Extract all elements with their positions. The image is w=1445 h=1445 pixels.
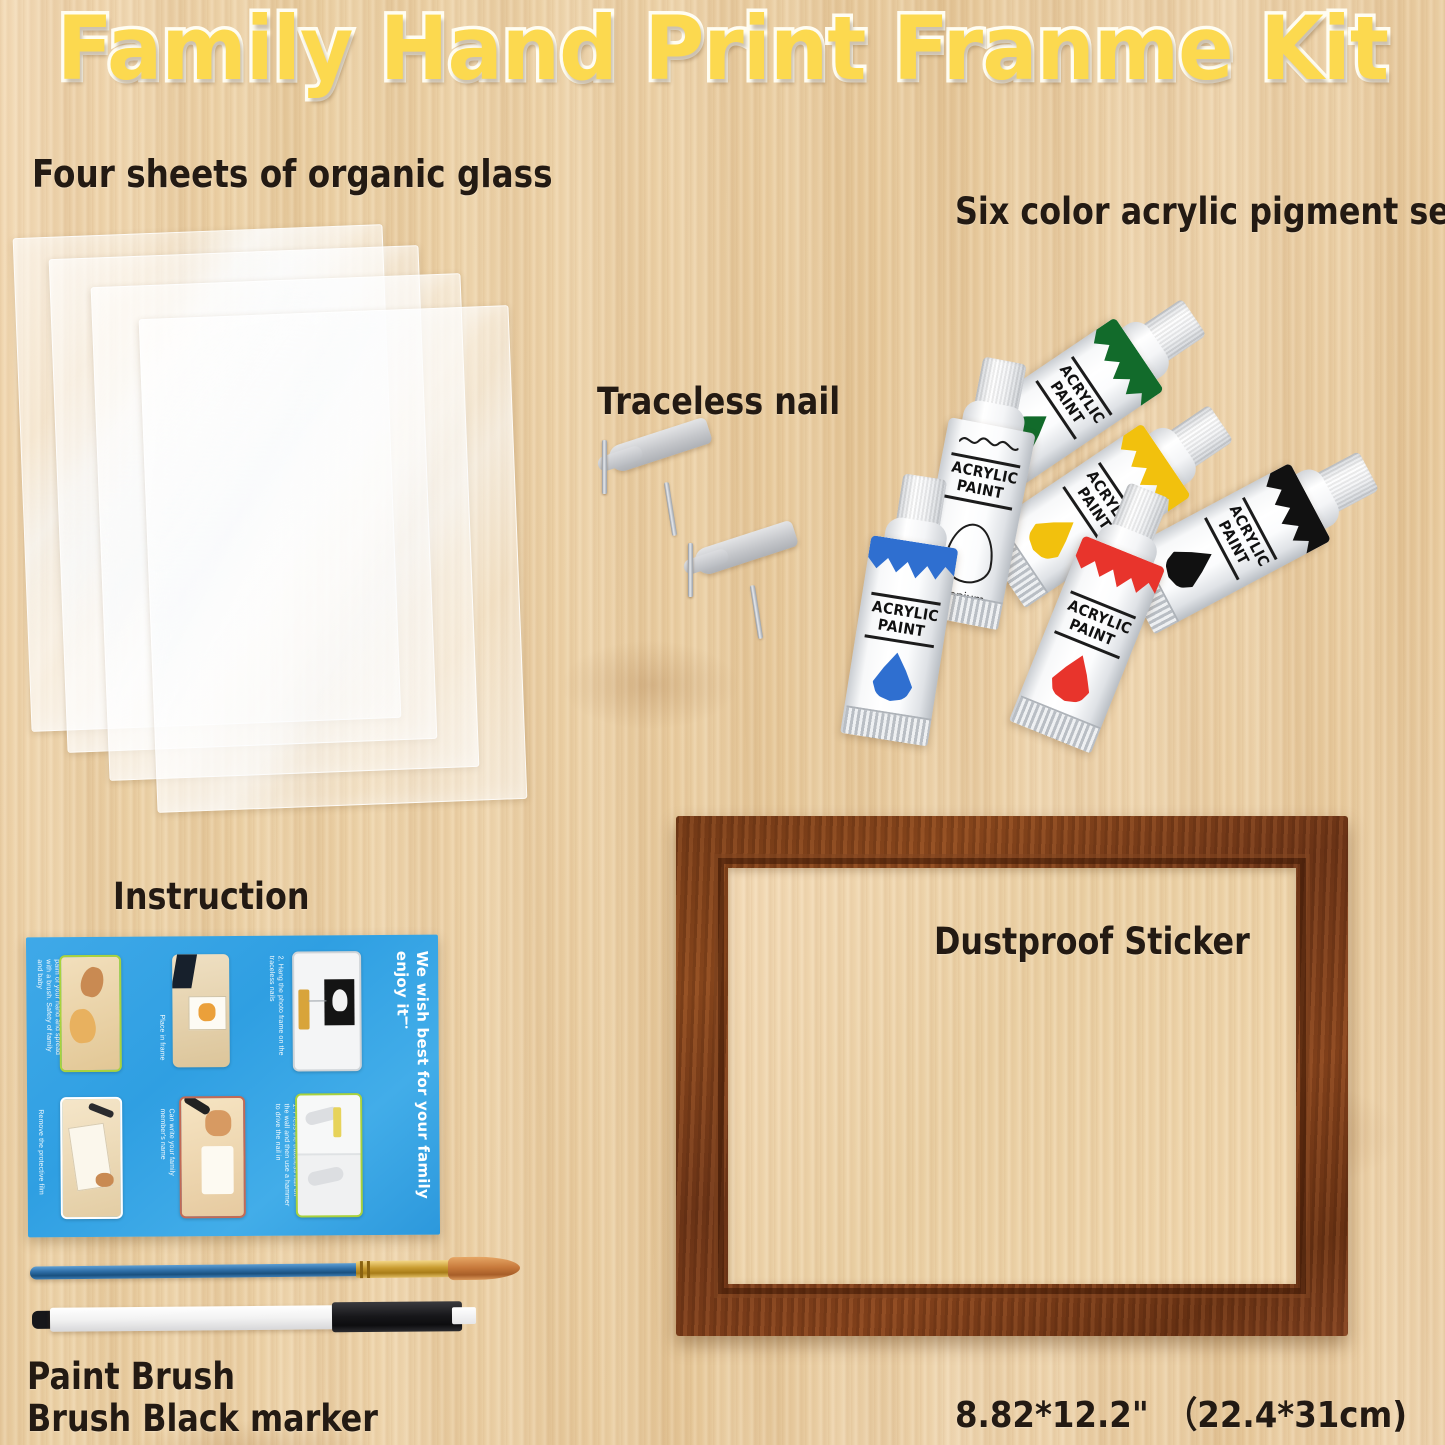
label-organic-glass: Four sheets of organic glass (32, 152, 553, 196)
black-marker (32, 1298, 472, 1336)
leaflet-step-image (172, 954, 230, 1067)
leaflet-step-caption: Can write your family member's name (157, 1108, 175, 1190)
tube-paint-drop (1046, 648, 1101, 708)
paint-brush (30, 1253, 520, 1286)
label-traceless-nail: Traceless nail (597, 380, 840, 423)
leaflet-step-image (292, 951, 362, 1071)
page-title: Family Hand Print Franme Kit (51, 3, 1395, 95)
leaflet-step-image (60, 1097, 123, 1219)
label-instruction: Instruction (113, 875, 309, 918)
leaflet-step-caption: Remove the protective film (35, 1109, 44, 1204)
traceless-nail (602, 440, 727, 532)
leaflet-step-caption: 2. Hang the photo frame on the traceless… (266, 956, 284, 1056)
traceless-nail (688, 543, 813, 635)
marker-barrel (50, 1305, 350, 1332)
leaflet-closing-text: We wish best for your family enjoy it！ (392, 951, 433, 1225)
label-frame-dimensions: 8.82*12.2" （22.4*31cm) (955, 1386, 1407, 1438)
leaflet-step-image (295, 1093, 363, 1217)
marker-tip (452, 1307, 476, 1324)
leaflet-step-image (179, 1096, 246, 1218)
acrylic-glass-sheet (139, 305, 528, 813)
product-infographic: Family Hand Print Franme Kit Four sheets… (0, 0, 1445, 1445)
label-brush-black-marker: Brush Black marker (27, 1397, 378, 1440)
leaflet-step-caption: Place in frame (156, 1014, 165, 1066)
label-pigment-set: Six color acrylic pigment set (955, 190, 1445, 233)
wooden-photo-frame (676, 816, 1348, 1336)
brush-handle (30, 1263, 360, 1279)
tube-paint-drop (870, 649, 917, 704)
label-dustproof-sticker: Dustproof Sticker (934, 920, 1250, 963)
brush-bristles (448, 1256, 520, 1280)
instruction-leaflet: Squeeze the paints onto the palm of your… (26, 935, 440, 1238)
marker-cap (332, 1301, 462, 1332)
label-paint-brush: Paint Brush (27, 1355, 235, 1398)
brush-ferrule (356, 1260, 454, 1278)
leaflet-step-image (59, 955, 122, 1072)
